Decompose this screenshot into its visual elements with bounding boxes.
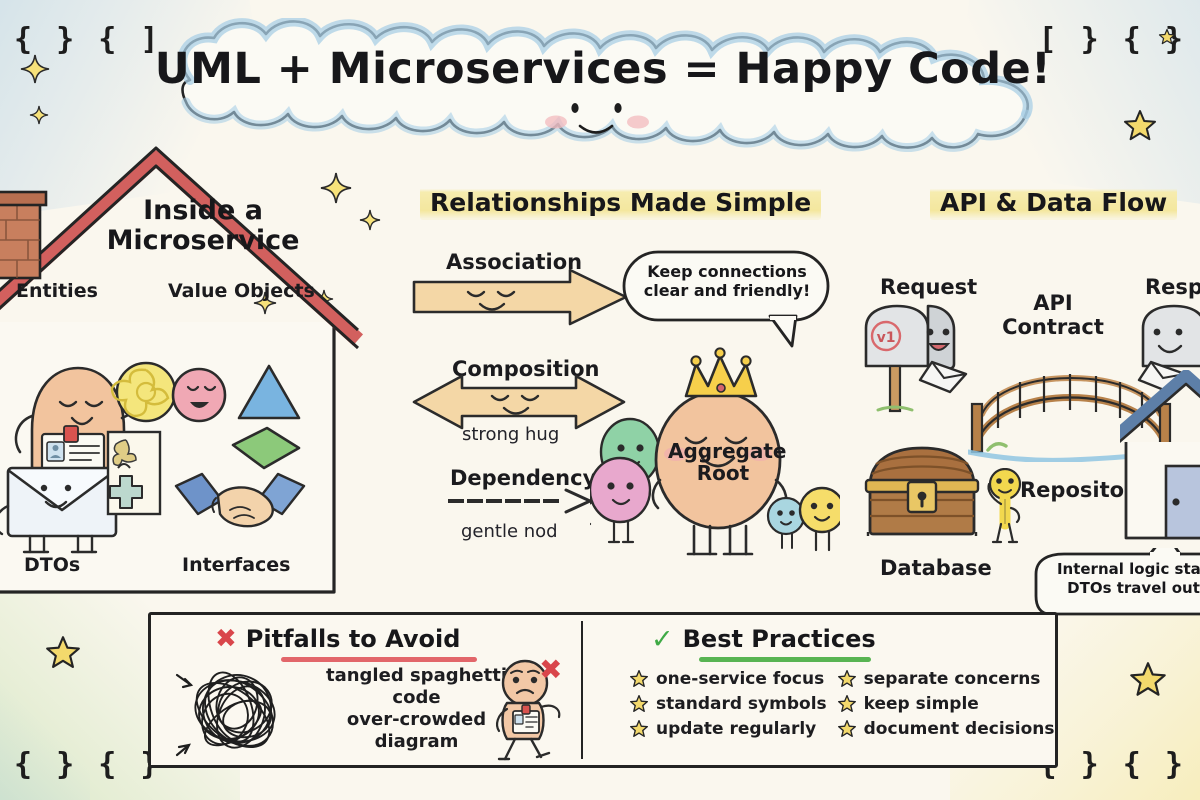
api-contract-line1: API bbox=[1000, 292, 1106, 316]
best-practice-label: update regularly bbox=[656, 719, 816, 739]
star-icon bbox=[837, 669, 857, 689]
child-entity-blue bbox=[768, 498, 804, 548]
star-icon bbox=[837, 719, 857, 739]
panel-divider bbox=[581, 621, 583, 759]
pitfalls-heading: ✖ Pitfalls to Avoid bbox=[215, 625, 460, 653]
heading-api-data-flow: API & Data Flow bbox=[930, 186, 1177, 220]
star-icon bbox=[629, 719, 649, 739]
sparkle-icon bbox=[18, 52, 52, 90]
star-icon bbox=[1122, 108, 1158, 148]
child-entity-yellow bbox=[800, 488, 840, 550]
label-api-contract: API Contract bbox=[1000, 292, 1106, 339]
request-mailbox-icon: v1 bbox=[858, 300, 976, 415]
cloud-blush-right bbox=[627, 116, 649, 129]
speech-bubble-internal-logic: Internal logic stays DTOs travel outs bbox=[1030, 548, 1200, 620]
internal-bubble-line1: Internal logic stays bbox=[1046, 560, 1200, 579]
best-practice-label: separate concerns bbox=[864, 669, 1041, 689]
label-database: Database bbox=[880, 556, 992, 580]
star-icon bbox=[837, 694, 857, 714]
page-title: UML + Microservices = Happy Code! bbox=[128, 44, 1078, 94]
repository-character-icon bbox=[985, 468, 1025, 546]
tangled-scribble-icon bbox=[175, 663, 311, 761]
bubble-line2: clear and friendly! bbox=[634, 281, 820, 300]
house-title-line2: Microservice bbox=[78, 226, 328, 256]
background-wash-bottom-left-blue bbox=[0, 680, 90, 800]
sublabel-gentle-nod: gentle nod bbox=[461, 521, 558, 542]
aggregate-label-line2: Root bbox=[668, 462, 778, 484]
best-practice-label: document decisions bbox=[864, 719, 1055, 739]
star-icon bbox=[629, 694, 649, 714]
label-response: Resp bbox=[1145, 275, 1200, 299]
label-aggregate-root: Aggregate Root bbox=[668, 440, 778, 484]
api-contract-line2: Contract bbox=[1000, 316, 1106, 340]
cloud-blush-left bbox=[545, 116, 567, 129]
heading-relationships: Relationships Made Simple bbox=[420, 186, 821, 220]
mailbox-stamp-text: v1 bbox=[877, 330, 896, 346]
bubble-line1: Keep connections bbox=[634, 262, 820, 281]
pitfalls-title: Pitfalls to Avoid bbox=[246, 625, 461, 653]
best-practices-title: Best Practices bbox=[683, 625, 876, 653]
code-braces-bottom-right: { } { } bbox=[1039, 747, 1186, 782]
list-item: document decisions bbox=[837, 719, 1055, 739]
label-dependency: Dependency bbox=[450, 466, 596, 490]
label-interfaces: Interfaces bbox=[182, 554, 290, 576]
best-practice-label: one-service focus bbox=[656, 669, 824, 689]
cloud-eye-left bbox=[571, 103, 578, 113]
aggregate-label-line1: Aggregate bbox=[668, 440, 778, 462]
bottom-panel: ✖ Pitfalls to Avoid tangled spaghetti co… bbox=[148, 612, 1058, 768]
cloud-eye-right bbox=[614, 103, 621, 113]
best-practice-label: standard symbols bbox=[656, 694, 827, 714]
list-item: one-service focus bbox=[629, 669, 827, 689]
best-practices-heading: ✓ Best Practices bbox=[651, 625, 876, 653]
x-mark-secondary-icon: ✖ bbox=[539, 653, 562, 686]
association-arrow-icon bbox=[410, 268, 630, 326]
best-practices-list: one-service focus separate concerns stan… bbox=[629, 669, 1049, 739]
list-item: separate concerns bbox=[837, 669, 1055, 689]
house-section-title: Inside a Microservice bbox=[78, 196, 328, 256]
internal-bubble-line2: DTOs travel outs bbox=[1046, 579, 1200, 598]
star-icon bbox=[44, 634, 82, 676]
best-practice-label: keep simple bbox=[864, 694, 979, 714]
list-item: keep simple bbox=[837, 694, 1055, 714]
pitfalls-underline bbox=[281, 657, 477, 662]
service-house-right-icon bbox=[1120, 370, 1200, 570]
list-item: standard symbols bbox=[629, 694, 827, 714]
database-chest-icon bbox=[862, 440, 982, 545]
label-request: Request bbox=[880, 275, 977, 299]
sparkle-icon bbox=[28, 104, 50, 130]
label-entities: Entities bbox=[16, 280, 98, 302]
microservice-house: Inside a Microservice Entities Value Obj… bbox=[0, 140, 366, 602]
star-icon bbox=[1128, 660, 1168, 704]
best-practices-underline bbox=[699, 657, 871, 662]
bubble-connections-text: Keep connections clear and friendly! bbox=[634, 262, 820, 300]
check-mark-icon: ✓ bbox=[651, 626, 674, 653]
dependency-arrow-icon bbox=[448, 488, 593, 514]
star-icon bbox=[629, 669, 649, 689]
bubble-internal-text: Internal logic stays DTOs travel outs bbox=[1046, 560, 1200, 597]
list-item: update regularly bbox=[629, 719, 827, 739]
house-title-line1: Inside a bbox=[78, 196, 328, 226]
document-card bbox=[108, 432, 160, 514]
label-dtos: DTOs bbox=[24, 554, 80, 576]
child-entity-pink bbox=[590, 458, 650, 542]
label-value-objects: Value Objects bbox=[168, 280, 315, 302]
infographic-poster: { } { ] [ } { } { } { } { } { } bbox=[0, 0, 1200, 800]
title-cloud-banner: UML + Microservices = Happy Code! bbox=[128, 18, 1078, 153]
x-mark-icon: ✖ bbox=[215, 626, 237, 652]
code-braces-bottom-left: { } { } bbox=[14, 747, 161, 782]
